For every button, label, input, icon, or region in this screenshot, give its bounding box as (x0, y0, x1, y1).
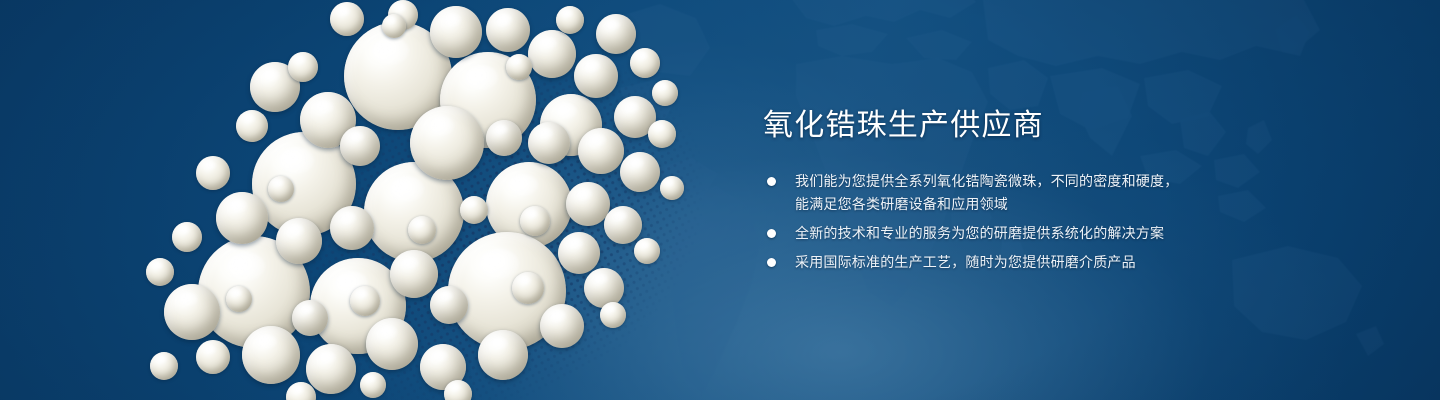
list-item-line-2: 能满足您各类研磨设备和应用领域 (795, 193, 1387, 216)
list-item-line-1: 采用国际标准的生产工艺，随时为您提供研磨介质产品 (795, 254, 1136, 270)
bullet-dot-icon (767, 258, 776, 267)
list-item-line-1: 我们能为您提供全系列氧化锆陶瓷微珠，不同的密度和硬度， (795, 173, 1178, 189)
banner-headline: 氧化锆珠生产供应商 (763, 108, 1044, 144)
list-item: 采用国际标准的生产工艺，随时为您提供研磨介质产品 (767, 251, 1387, 274)
bullet-dot-icon (767, 229, 776, 238)
list-item: 我们能为您提供全系列氧化锆陶瓷微珠，不同的密度和硬度， 能满足您各类研磨设备和应… (767, 170, 1387, 216)
bullet-dot-icon (767, 177, 776, 186)
feature-list: 我们能为您提供全系列氧化锆陶瓷微珠，不同的密度和硬度， 能满足您各类研磨设备和应… (767, 170, 1387, 280)
zirconia-beads-image (0, 0, 760, 400)
hero-banner: 氧化锆珠生产供应商 我们能为您提供全系列氧化锆陶瓷微珠，不同的密度和硬度， 能满… (0, 0, 1440, 400)
list-item: 全新的技术和专业的服务为您的研磨提供系统化的解决方案 (767, 222, 1387, 245)
list-item-line-1: 全新的技术和专业的服务为您的研磨提供系统化的解决方案 (795, 225, 1164, 241)
banner-copy: 氧化锆珠生产供应商 我们能为您提供全系列氧化锆陶瓷微珠，不同的密度和硬度， 能满… (763, 0, 1403, 400)
